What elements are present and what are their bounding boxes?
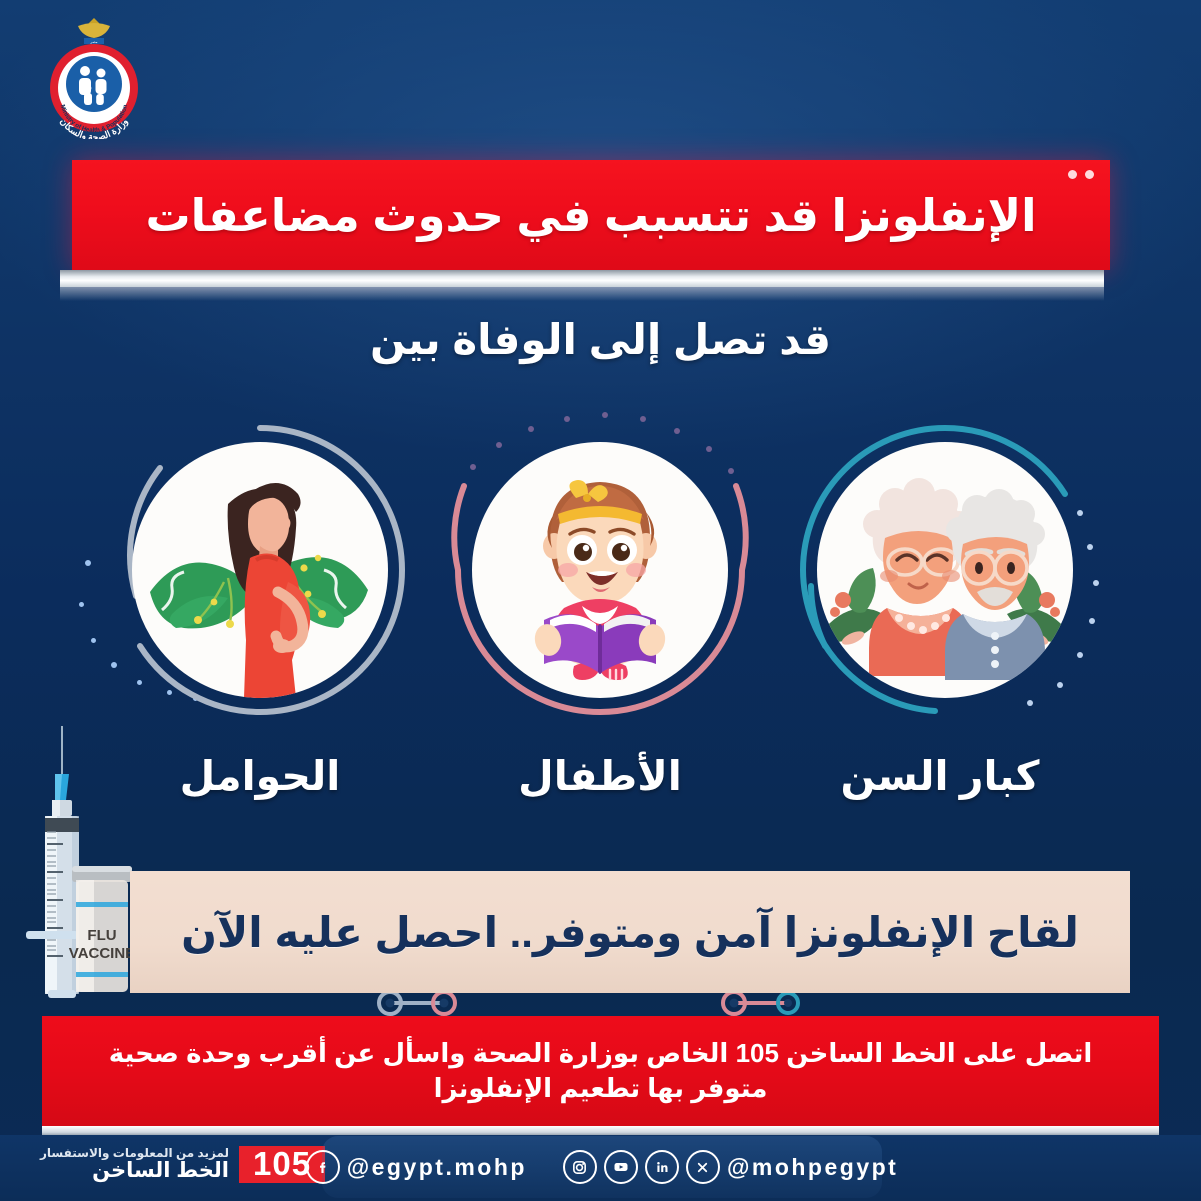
label-elderly: كبار السن [770,752,1110,800]
hotline-callout: اتصل على الخط الساخن 105 الخاص بوزارة ال… [42,1016,1159,1126]
pregnant-woman-illustration [132,442,388,698]
hotline-subtitle: لمزيد من المعلومات والاستفسار [40,1147,229,1160]
instagram-icon[interactable] [563,1150,597,1184]
risk-groups-row [0,420,1201,750]
vaccine-availability-text: لقاح الإنفلونزا آمن ومتوفر.. احصل عليه ا… [181,908,1079,957]
x-twitter-icon[interactable] [686,1150,720,1184]
elderly-couple-illustration [817,442,1073,698]
ministry-logo: مصر Ministry of Health & Population وزار… [34,14,154,139]
risk-group-elderly [795,420,1095,720]
hotline-callout-line2: متوفر بها تطعيم الإنفلونزا [434,1073,768,1104]
headline-silver-strip [60,270,1104,287]
facebook-icon[interactable] [306,1150,340,1184]
headline-text: الإنفلونزا قد تتسبب في حدوث مضاعفات [145,189,1036,242]
vial-label-line2: VACCINE [69,945,135,962]
hotline-callout-line1: اتصل على الخط الساخن 105 الخاص بوزارة ال… [109,1038,1093,1069]
facebook-handle[interactable]: @egypt.mohp [347,1154,527,1181]
hotline-badge[interactable]: 105 لمزيد من المعلومات والاستفسار الخط ا… [40,1146,325,1183]
other-social-handle[interactable]: @mohpegypt [727,1154,898,1181]
youtube-icon[interactable] [604,1150,638,1184]
hotline-title: الخط الساخن [92,1160,229,1182]
subtitle-text: قد تصل إلى الوفاة بين [0,315,1201,364]
social-media-bar: @egypt.mohp [322,1136,882,1198]
child-reading-book-illustration [472,442,728,698]
label-children: الأطفال [430,752,770,800]
risk-group-labels: الحوامل الأطفال كبار السن [0,752,1201,822]
risk-group-children [450,420,750,720]
headline-banner: الإنفلونزا قد تتسبب في حدوث مضاعفات [72,160,1110,270]
callout-silver-strip [42,1126,1159,1135]
svg-text:مصر: مصر [89,40,97,44]
linkedin-icon[interactable] [645,1150,679,1184]
vaccine-availability-banner: لقاح الإنفلونزا آمن ومتوفر.. احصل عليه ا… [130,871,1130,993]
headline-dots [1068,170,1094,179]
vial-label-line1: FLU [87,927,116,944]
risk-group-pregnant [110,420,410,720]
infographic-poster: مصر Ministry of Health & Population وزار… [0,0,1201,1201]
